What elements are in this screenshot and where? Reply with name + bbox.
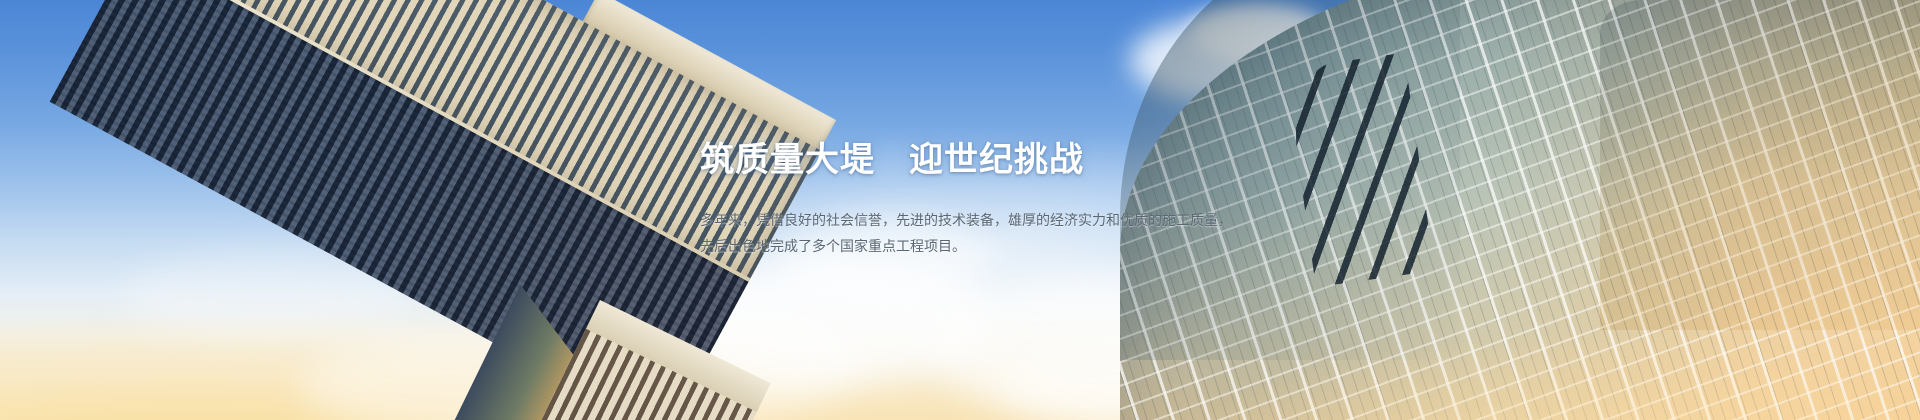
banner-headline: 筑质量大堤迎世纪挑战 [700,132,1220,181]
right-glass-building-sunset-glow [1210,264,1920,420]
subcopy-line-1: 多年来，凭借良好的社会信誉，先进的技术装备，雄厚的经济实力和优质的施工质量， [700,207,1220,233]
headline-part-2: 迎世纪挑战 [909,141,1084,179]
subcopy-line-2: 先后出色地完成了多个国家重点工程项目。 [700,233,1220,259]
banner-subcopy: 多年来，凭借良好的社会信誉，先进的技术装备，雄厚的经济实力和优质的施工质量， 先… [700,207,1220,259]
hero-banner: 筑质量大堤迎世纪挑战 多年来，凭借良好的社会信誉，先进的技术装备，雄厚的经济实力… [0,0,1920,420]
headline-part-1: 筑质量大堤 [700,141,875,179]
right-glass-building [1120,0,1920,420]
banner-copy: 筑质量大堤迎世纪挑战 多年来，凭借良好的社会信誉，先进的技术装备，雄厚的经济实力… [700,132,1220,259]
